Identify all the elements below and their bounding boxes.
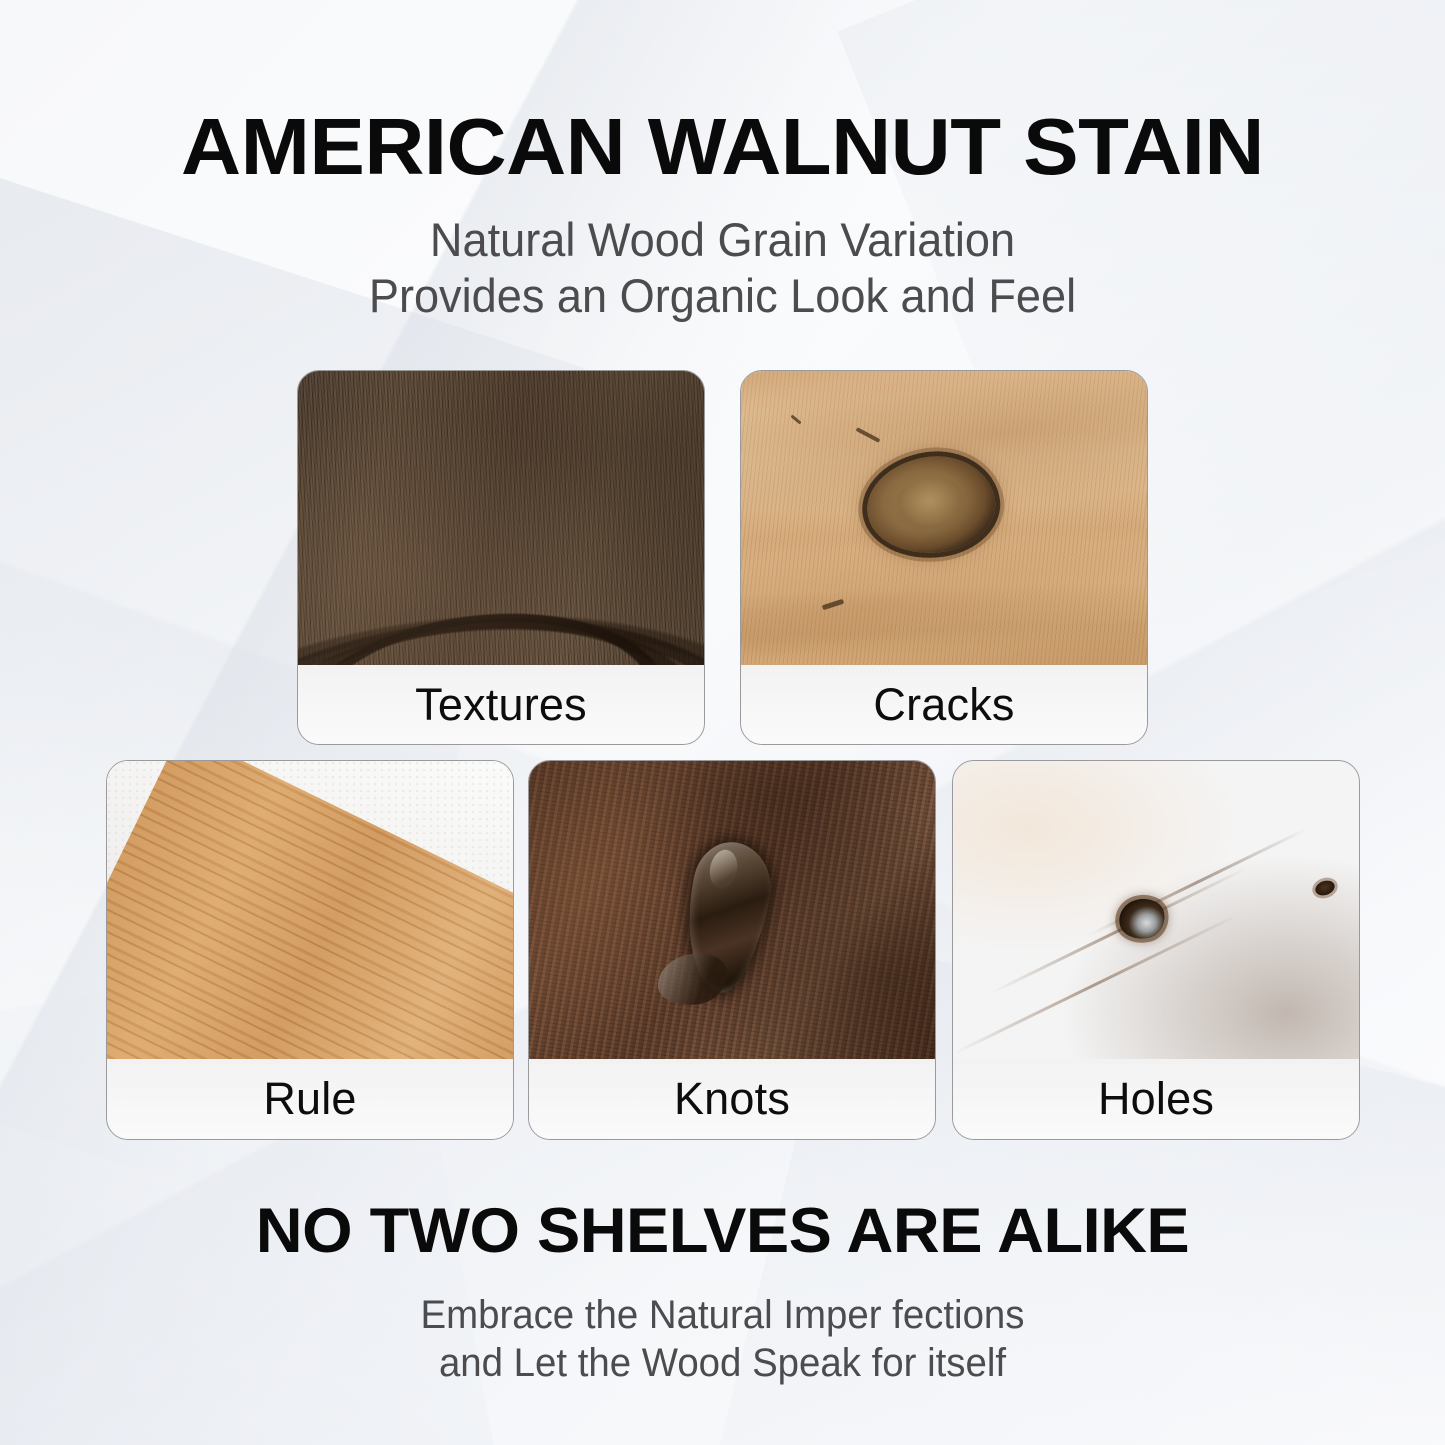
crack-mark-3: [790, 415, 801, 425]
footer-title: NO TWO SHELVES ARE ALIKE: [0, 1196, 1445, 1266]
footer-subtitle-line-2: and Let the Wood Speak for itself: [29, 1339, 1416, 1387]
page-subtitle-line-1: Natural Wood Grain Variation: [430, 213, 1015, 266]
feature-card-rule[interactable]: Rule: [106, 760, 514, 1140]
wood-texture-swatch-red-brown: [529, 761, 935, 1061]
feature-card-knots[interactable]: Knots: [528, 760, 936, 1140]
card-label-holes: Holes: [953, 1059, 1359, 1139]
crack-mark-2: [822, 599, 844, 611]
hole-pit-shape: [1116, 895, 1169, 944]
rule-photo: [107, 761, 513, 1061]
page-subtitle-line-2: Provides an Organic Look and Feel: [29, 268, 1416, 324]
page-title: AMERICAN WALNUT STAIN: [0, 104, 1445, 190]
footer-subtitle-line-1: Embrace the Natural Imper fections: [420, 1293, 1024, 1337]
card-label-textures: Textures: [298, 665, 704, 744]
feature-card-holes[interactable]: Holes: [952, 760, 1360, 1140]
page-subtitle: Natural Wood Grain Variation Provides an…: [29, 212, 1416, 324]
crack-mark-1: [855, 427, 880, 443]
feature-card-textures[interactable]: Textures: [297, 370, 705, 745]
grain-streak-3: [953, 914, 1238, 1056]
cracks-photo: [741, 371, 1147, 667]
wood-texture-swatch-copper: [953, 761, 1359, 1061]
knot-blob-shape: [674, 836, 779, 998]
card-label-knots: Knots: [529, 1059, 935, 1139]
wood-board-edge-swatch: [107, 761, 513, 1061]
textures-photo: [298, 371, 704, 667]
hole-secondary-dot: [1313, 878, 1337, 898]
wood-texture-swatch-dark-walnut: [298, 371, 704, 667]
knot-oval-shape: [861, 448, 1001, 561]
feature-card-cracks[interactable]: Cracks: [740, 370, 1148, 745]
card-label-cracks: Cracks: [741, 665, 1147, 744]
holes-photo: [953, 761, 1359, 1061]
infographic-page: AMERICAN WALNUT STAIN Natural Wood Grain…: [0, 0, 1445, 1445]
footer-subtitle: Embrace the Natural Imper fections and L…: [29, 1291, 1416, 1387]
knots-photo: [529, 761, 935, 1061]
card-label-rule: Rule: [107, 1059, 513, 1139]
wood-texture-swatch-honey: [741, 371, 1147, 667]
